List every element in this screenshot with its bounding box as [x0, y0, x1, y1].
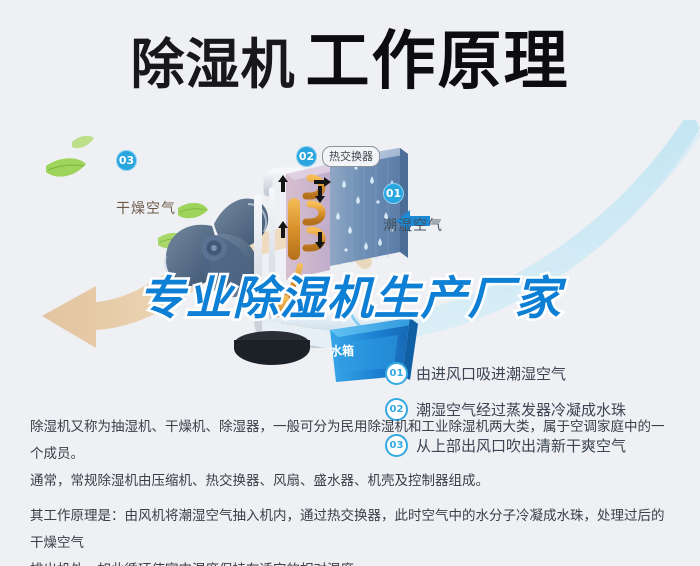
- page-title-part1: 除湿机: [131, 33, 296, 96]
- paragraph-spacer: [30, 495, 674, 503]
- heat-exchanger-callout: 热交换器: [322, 146, 380, 167]
- paragraph-2-line-2: 排出机外，如此循环使室内湿度保持在适宜的相对湿度。: [30, 557, 674, 566]
- paragraph-1-line-2: 通常，常规除湿机由压缩机、热交换器、风扇、盛水器、机壳及控制器组成。: [30, 468, 674, 495]
- badge-01-humid-air: 01: [383, 183, 404, 204]
- list-item: 01 由进风口吸进潮湿空气: [385, 363, 685, 384]
- body-copy: 除湿机又称为抽湿机、干燥机、除湿器，一般可分为民用除湿机和工业除湿机两大类，属于…: [30, 414, 674, 566]
- page-title: 除湿机工作原理: [0, 30, 700, 94]
- legend-badge-01: 01: [385, 362, 408, 385]
- page-root: 除湿机工作原理: [0, 0, 700, 566]
- legend-text-01: 由进风口吸进潮湿空气: [416, 363, 566, 384]
- dry-air-label: 干燥空气: [116, 198, 176, 218]
- water-tank-label: 水箱: [330, 342, 354, 359]
- paragraph-2-line-1: 其工作原理是：由风机将潮湿空气抽入机内，通过热交换器，此时空气中的水分子冷凝成水…: [30, 503, 674, 557]
- paragraph-1-line-1: 除湿机又称为抽湿机、干燥机、除湿器，一般可分为民用除湿机和工业除湿机两大类，属于…: [30, 414, 674, 468]
- humid-air-label: 潮湿空气: [383, 215, 443, 235]
- compressor-base: [234, 331, 310, 365]
- page-title-part2: 工作原理: [306, 25, 570, 99]
- badge-03-dry-air: 03: [116, 150, 137, 171]
- badge-02-heat-exchanger: 02: [296, 146, 317, 167]
- dehumidifier-diagram: 03 干燥空气 02 热交换器 01 潮湿空气 水箱 01 由进风口吸进潮湿空气…: [0, 120, 700, 400]
